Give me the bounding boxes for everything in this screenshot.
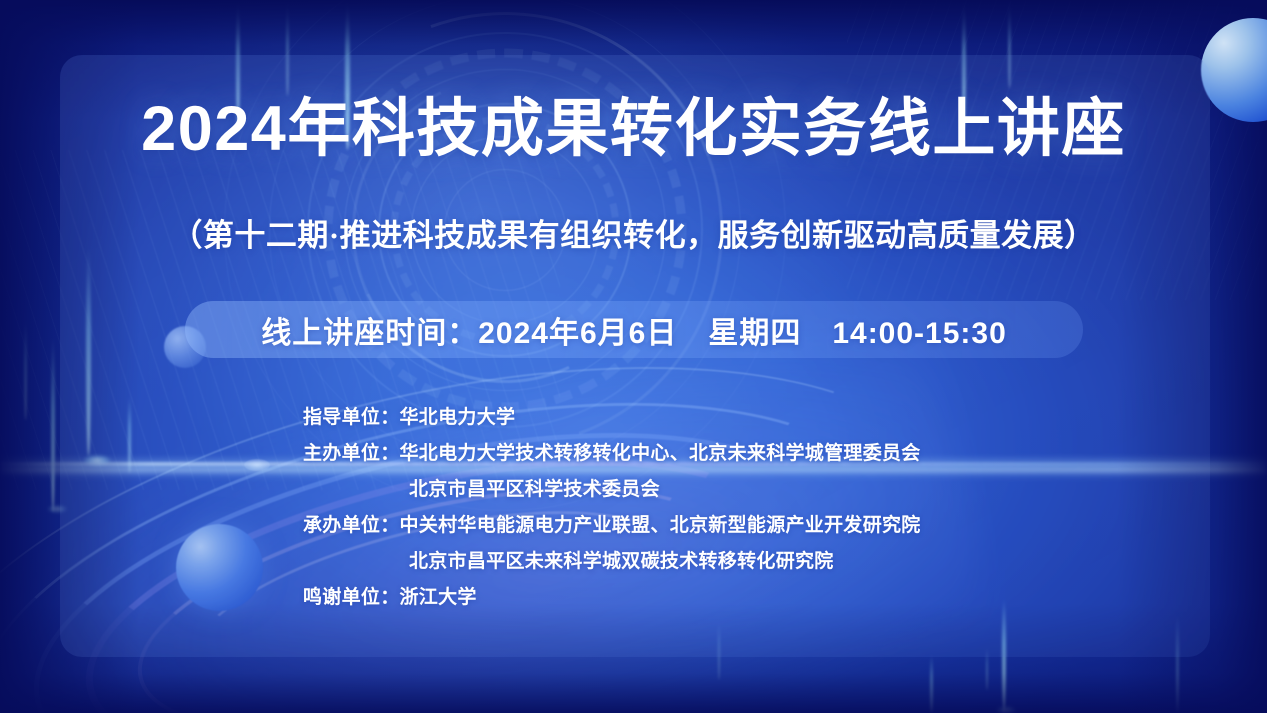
- poster-subtitle: （第十二期·推进科技成果有组织转化，服务创新驱动高质量发展）: [0, 210, 1267, 255]
- organization-line: 北京市昌平区科学技术委员会: [303, 472, 1003, 508]
- poster-title: 2024年科技成果转化实务线上讲座: [0, 98, 1267, 161]
- organization-line: 指导单位：华北电力大学: [303, 400, 1003, 436]
- organization-line: 承办单位：中关村华电能源电力产业联盟、北京新型能源产业开发研究院: [303, 508, 1003, 544]
- organization-line: 主办单位：华北电力大学技术转移转化中心、北京未来科学城管理委员会: [303, 436, 1003, 472]
- poster-canvas: 2024年科技成果转化实务线上讲座 （第十二期·推进科技成果有组织转化，服务创新…: [0, 0, 1267, 713]
- lecture-time-text: 线上讲座时间：2024年6月6日 星期四 14:00-15:30: [261, 308, 1007, 352]
- organization-line: 北京市昌平区未来科学城双碳技术转移转化研究院: [303, 544, 1003, 580]
- lecture-time-banner: 线上讲座时间：2024年6月6日 星期四 14:00-15:30: [185, 301, 1083, 358]
- poster-content: 2024年科技成果转化实务线上讲座 （第十二期·推进科技成果有组织转化，服务创新…: [0, 0, 1267, 713]
- organization-line: 鸣谢单位：浙江大学: [303, 580, 1003, 616]
- organization-list: 指导单位：华北电力大学 主办单位：华北电力大学技术转移转化中心、北京未来科学城管…: [303, 400, 1003, 616]
